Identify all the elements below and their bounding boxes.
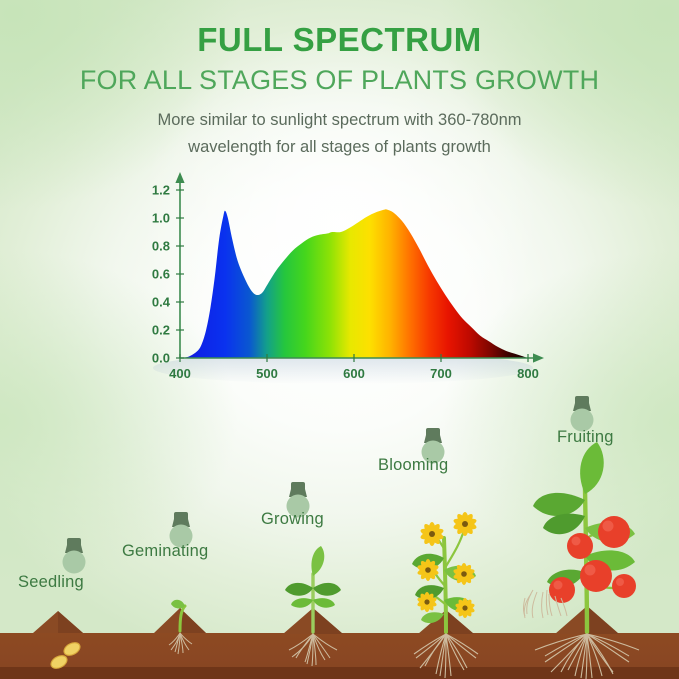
- page-subtitle: FOR ALL STAGES OF PLANTS GROWTH: [0, 58, 679, 95]
- root-system-fruiting: [535, 634, 639, 679]
- y-axis-tick-label: 0.4: [152, 295, 171, 310]
- y-axis-arrow: [175, 172, 184, 183]
- y-axis-tick-label: 1.0: [152, 211, 170, 226]
- description-line-2: wavelength for all stages of plants grow…: [0, 133, 679, 161]
- root-system-geminating: [169, 633, 192, 654]
- bulb-icon-seedling: [63, 538, 86, 574]
- bulb-icon-fruiting: [571, 396, 594, 432]
- stage-label-blooming: Blooming: [378, 456, 448, 475]
- spectrum-chart: 0.00.20.40.60.81.01.2 400500600700800: [128, 168, 548, 393]
- y-axis-tick-label: 0.2: [152, 323, 170, 338]
- soil-mound-shade-fruiting: [587, 606, 619, 634]
- y-axis-tick-label: 0.0: [152, 351, 170, 366]
- x-axis-arrow: [533, 353, 544, 362]
- root-system-blooming: [414, 634, 478, 678]
- x-axis-tick-label: 500: [256, 366, 278, 381]
- spectrum-chart-svg: 0.00.20.40.60.81.01.2 400500600700800: [128, 168, 548, 393]
- y-axis-ticks: 0.00.20.40.60.81.01.2: [152, 183, 184, 366]
- spectrum-area: [180, 209, 528, 358]
- plant-stem-fruiting: [585, 488, 587, 632]
- stage-label-geminating: Geminating: [122, 542, 208, 561]
- stage-label-seedling: Seedling: [18, 573, 84, 592]
- header-block: FULL SPECTRUM FOR ALL STAGES OF PLANTS G…: [0, 0, 679, 161]
- seed-icon-group: [49, 640, 82, 671]
- y-axis-tick-label: 0.6: [152, 267, 170, 282]
- stage-label-growing: Growing: [261, 510, 324, 529]
- soil-mound-shade-growing: [313, 608, 343, 634]
- y-axis-tick-label: 1.2: [152, 183, 170, 198]
- page-title: FULL SPECTRUM: [0, 0, 679, 58]
- x-axis-tick-label: 700: [430, 366, 452, 381]
- sprout-leaf: [171, 600, 185, 609]
- x-axis-tick-label: 800: [517, 366, 539, 381]
- poster-canvas: FULL SPECTRUM FOR ALL STAGES OF PLANTS G…: [0, 0, 679, 679]
- x-axis-tick-label: 400: [169, 366, 191, 381]
- stage-fruiting: Fruiting: [495, 388, 679, 679]
- root-system-growing: [289, 634, 337, 666]
- x-axis-tick-label: 600: [343, 366, 365, 381]
- soil-mound-shade-geminating: [180, 608, 206, 633]
- stage-label-fruiting: Fruiting: [557, 428, 614, 447]
- description-line-1: More similar to sunlight spectrum with 3…: [0, 95, 679, 134]
- y-axis-tick-label: 0.8: [152, 239, 170, 254]
- soil-mound-shade-seedling: [58, 611, 83, 633]
